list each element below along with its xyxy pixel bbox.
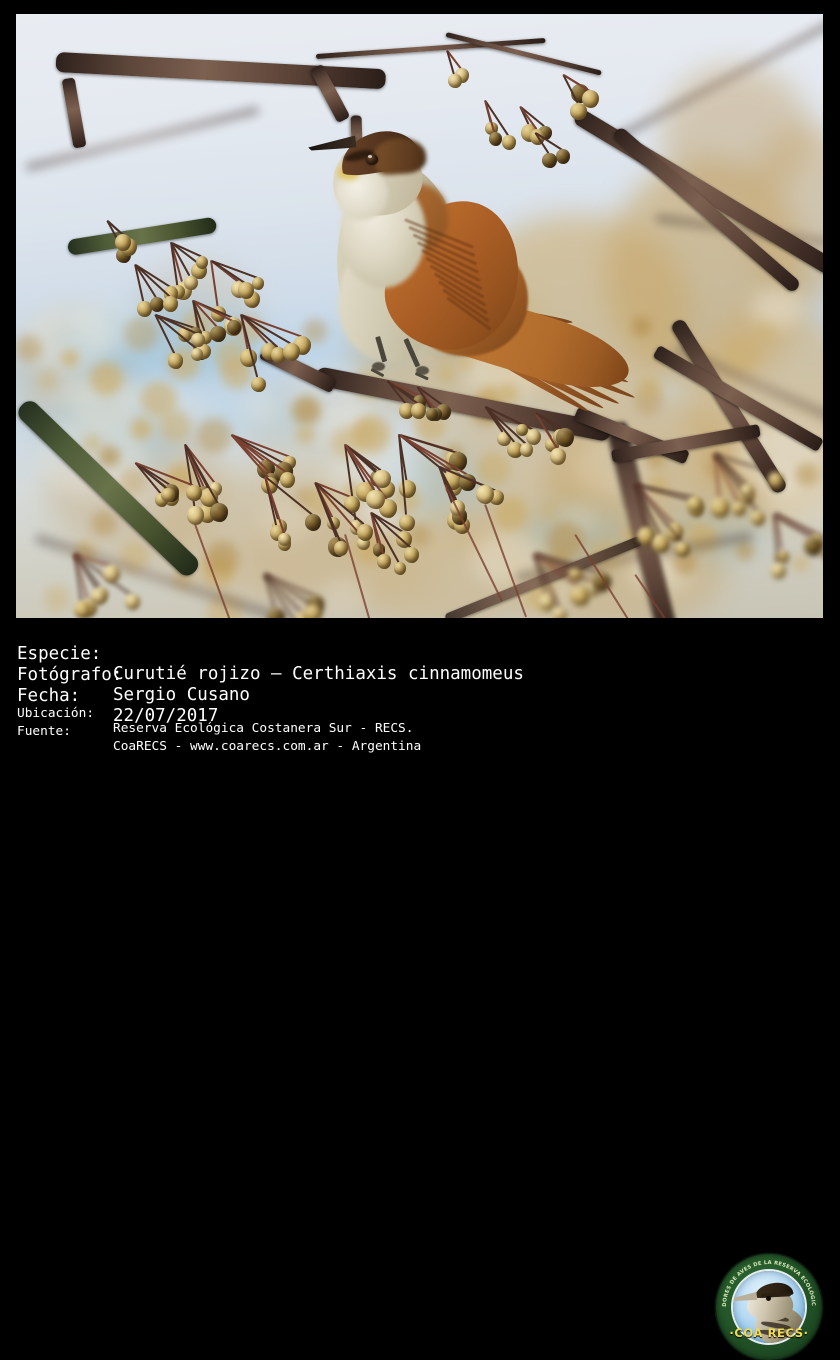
label-fuente: Fuente: [17, 724, 71, 739]
bird-subject [316, 122, 596, 382]
blurred-berry [99, 446, 120, 467]
value-fotografo: Sergio Cusano [113, 685, 250, 705]
berry [191, 348, 204, 361]
berry [652, 535, 669, 553]
blurred-berry [16, 335, 42, 362]
caption-row-fuente: Fuente: CoaRECS - www.coarecs.com.ar - A… [0, 709, 46, 769]
blurred-berry [90, 362, 123, 395]
berry [357, 524, 373, 541]
branch-upper-left-fork [62, 77, 87, 148]
berry [411, 403, 426, 419]
bird-photograph [16, 14, 823, 618]
berry [710, 498, 729, 518]
blurred-berry [197, 418, 232, 453]
berry [186, 485, 202, 501]
coa-recs-logo[interactable]: CLUB DE OBSERVADORES DE AVES DE LA RESER… [716, 1254, 822, 1360]
background-twig [25, 106, 260, 171]
berry [771, 563, 786, 579]
berry [210, 503, 227, 521]
berry [448, 74, 462, 88]
caption-block: Especie: Curutié rojizo — Certhiaxis cin… [0, 618, 840, 735]
berry [344, 496, 360, 513]
berry [675, 542, 690, 557]
berry [103, 565, 120, 583]
value-fuente: CoaRECS - www.coarecs.com.ar - Argentina [113, 739, 421, 754]
photo-caption-card: Especie: Curutié rojizo — Certhiaxis cin… [0, 0, 840, 735]
blurred-berry [755, 323, 774, 342]
blurred-berry [538, 501, 559, 522]
berry [582, 90, 599, 108]
blurred-berry [639, 377, 660, 398]
berry [741, 484, 754, 498]
berry [553, 608, 567, 618]
berry [687, 496, 703, 512]
blurred-berry [736, 542, 754, 560]
blurred-berry [131, 418, 152, 439]
berry [161, 488, 174, 502]
bird-eye-highlight [368, 155, 372, 158]
berry [125, 594, 140, 610]
branch-upper-left [55, 52, 386, 89]
branch-left-green-upper [67, 217, 218, 256]
blurred-berry [292, 396, 321, 425]
bokeh-highlight [751, 288, 804, 327]
berry [304, 604, 322, 618]
berry [184, 276, 198, 291]
logo-wordmark: ·COA RECS· [716, 1326, 822, 1340]
berry [570, 586, 590, 607]
logo-bird-eye [766, 1296, 771, 1301]
value-especie: Curutié rojizo — Certhiaxis cinnamomeus [113, 664, 524, 684]
berry [252, 277, 264, 290]
berry [394, 562, 406, 575]
value-ubicacion: Reserva Ecológica Costanera Sur - RECS. [113, 721, 413, 736]
berry [426, 408, 438, 421]
blurred-berry [792, 555, 810, 573]
blurred-berry [37, 369, 60, 392]
berry [732, 502, 746, 517]
berry [163, 296, 178, 312]
blurred-berry [141, 381, 177, 417]
blurred-berry [795, 463, 819, 487]
berry [377, 554, 391, 568]
berry [280, 472, 295, 488]
berry [74, 601, 91, 618]
blurred-berry [44, 585, 71, 612]
blurred-berry [353, 421, 377, 445]
blurred-berry [124, 317, 158, 351]
berry [399, 480, 416, 498]
berry [187, 506, 205, 525]
berry [210, 326, 225, 342]
berry [227, 320, 241, 334]
berry [804, 537, 822, 556]
blurred-berry [61, 350, 78, 367]
berry [168, 353, 183, 368]
berry [768, 472, 784, 488]
berry [366, 490, 385, 510]
berry [238, 282, 253, 298]
blurred-berry [91, 511, 117, 537]
berry [251, 377, 266, 393]
berry [520, 443, 534, 457]
bokeh-highlight [240, 393, 280, 423]
berry [267, 608, 285, 618]
berry [399, 515, 414, 531]
